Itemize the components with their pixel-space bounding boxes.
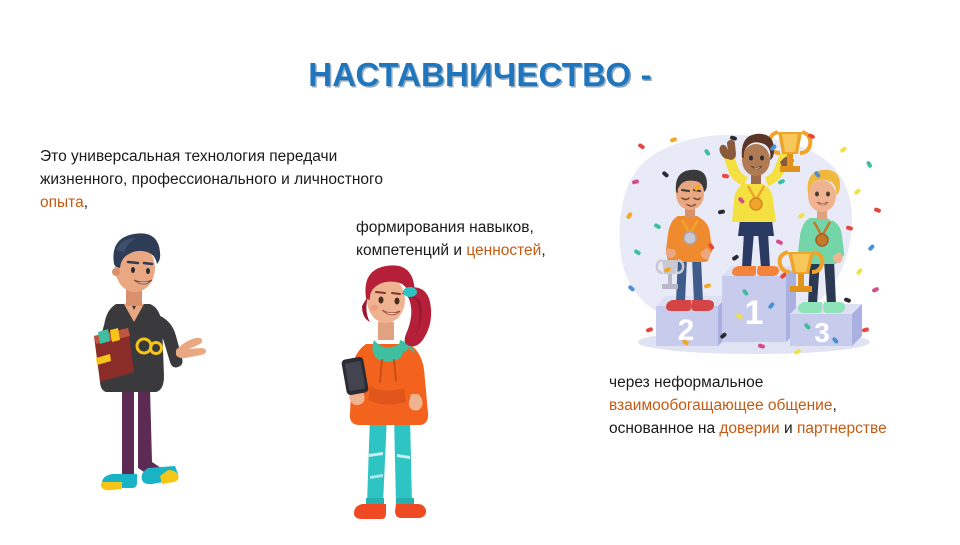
body-text: , <box>541 242 545 259</box>
podium-number-3: 3 <box>814 317 830 348</box>
girl-with-smartphone-icon <box>322 248 462 540</box>
body-text: , <box>84 194 88 211</box>
illustration-mentor <box>72 218 212 508</box>
accent-text: опыта <box>40 194 84 211</box>
text-block-communication: через неформальное взаимообогащающее общ… <box>609 371 909 440</box>
page-title: НАСТАВНИЧЕСТВО - <box>0 56 960 94</box>
text-block-experience: Это универсальная технология передачи жи… <box>40 145 420 214</box>
slide-canvas: НАСТАВНИЧЕСТВО - Это универсальная техно… <box>0 0 960 540</box>
accent-text: партнерстве <box>797 420 887 437</box>
accent-text: взаимообогащающее общение <box>609 397 832 414</box>
body-text: через неформальное <box>609 374 763 391</box>
podium-number-1: 1 <box>745 294 764 332</box>
winners-podium-with-three-children-icon: 2 1 3 <box>618 128 890 376</box>
accent-text: ценностей <box>466 242 541 259</box>
accent-text: доверии <box>719 420 779 437</box>
body-text: Это универсальная технология передачи жи… <box>40 148 383 188</box>
illustration-student <box>322 248 462 540</box>
young-man-with-books-pointing-icon <box>72 218 212 508</box>
body-text: и <box>780 420 797 437</box>
illustration-podium: 2 1 3 <box>618 128 890 376</box>
